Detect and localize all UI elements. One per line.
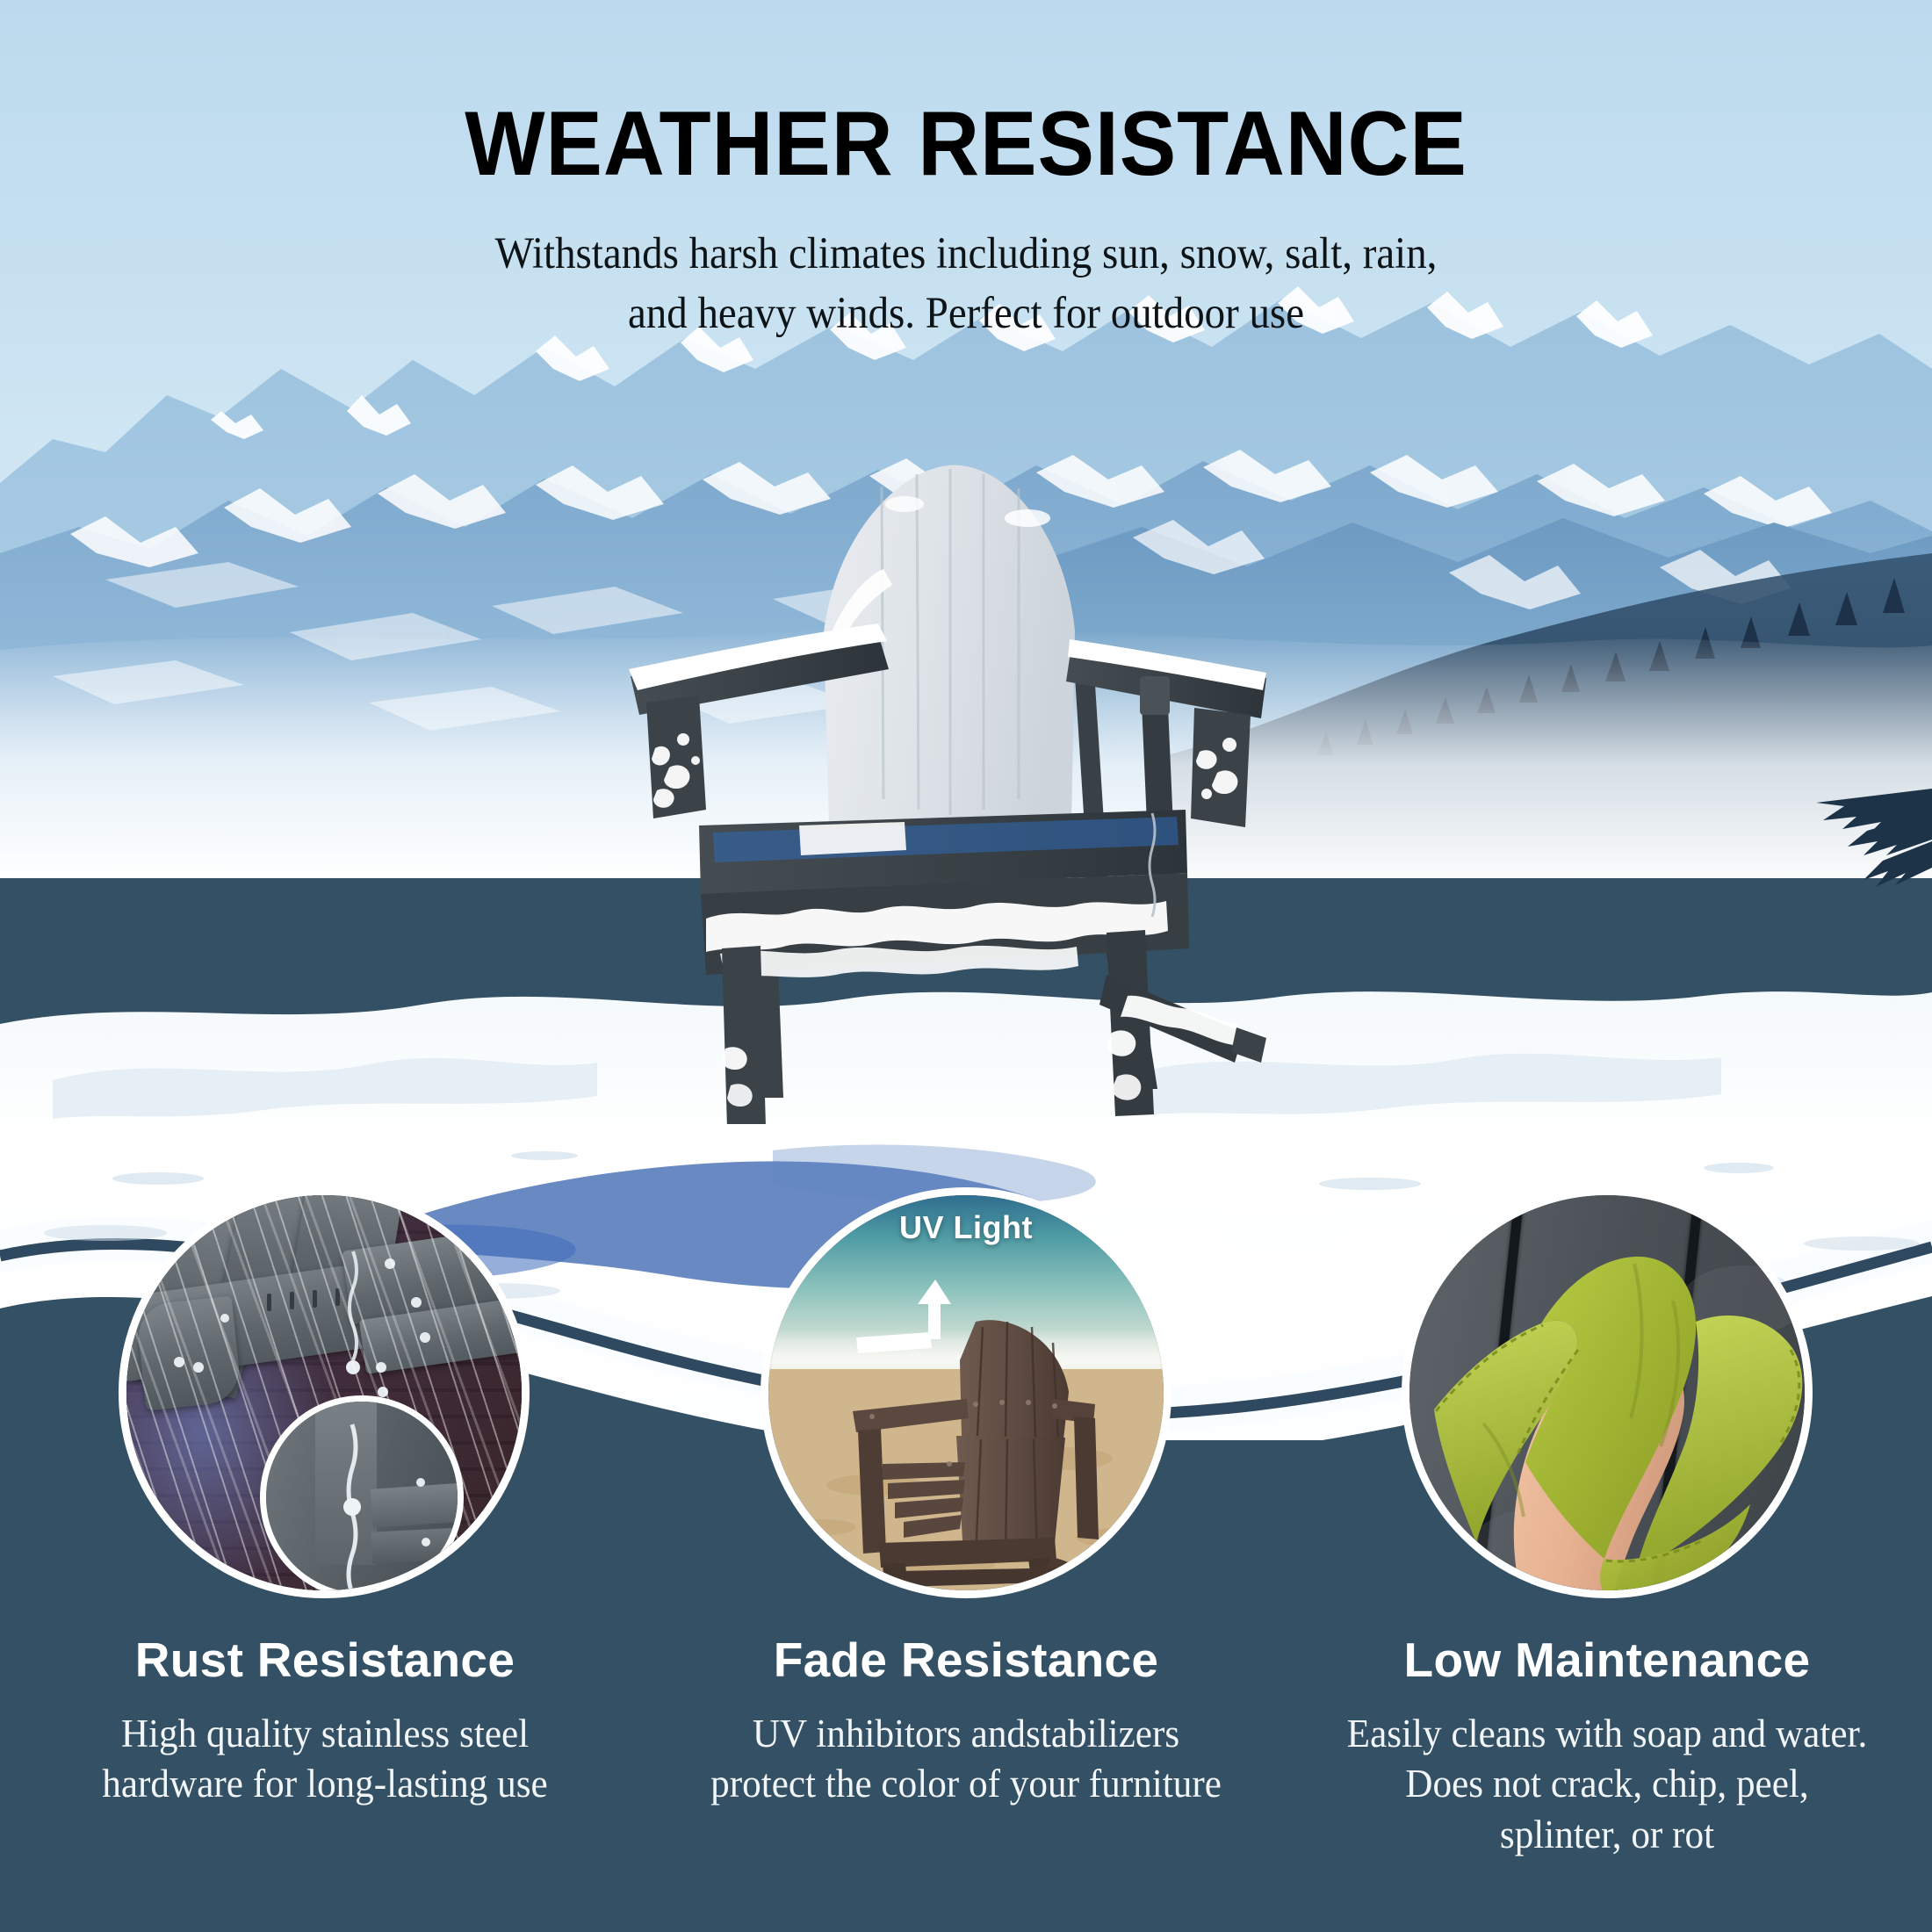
rain-hardware-photo [126, 1195, 522, 1590]
uv-arc [761, 1187, 1171, 1598]
feature-body: UV inhibitors andstabilizers protect the… [704, 1709, 1227, 1810]
microfiber-cloth-icon [1409, 1195, 1813, 1598]
feature-image-rust-resistance[interactable] [119, 1187, 530, 1598]
feature-image-row: UV Light [0, 1187, 1932, 1644]
feature-card-low-maintenance: Low Maintenance Easily cleans with soap … [1335, 1635, 1879, 1861]
feature-heading: Rust Resistance [53, 1635, 597, 1686]
feature-card-rust-resistance: Rust Resistance High quality stainless s… [53, 1635, 597, 1810]
header: WEATHER RESISTANCE Withstands harsh clim… [0, 0, 1932, 344]
uv-light-label: UV Light [768, 1209, 1164, 1246]
cleaning-photo [1409, 1195, 1805, 1590]
subtitle-line-2: and heavy winds. Perfect for outdoor use [77, 285, 1855, 344]
feature-heading: Fade Resistance [694, 1635, 1238, 1686]
page-title: WEATHER RESISTANCE [68, 98, 1864, 190]
feature-image-fade-resistance[interactable]: UV Light [761, 1187, 1171, 1598]
uv-light-arrow-icon [853, 1272, 1011, 1378]
beach-chair-photo: UV Light [768, 1195, 1164, 1590]
feature-body: Easily cleans with soap and water. Does … [1345, 1709, 1868, 1861]
infographic-canvas: WEATHER RESISTANCE Withstands harsh clim… [0, 0, 1932, 1932]
feature-heading: Low Maintenance [1335, 1635, 1879, 1686]
inset-chain-closeup[interactable] [260, 1395, 464, 1598]
feature-body: High quality stainless steel hardware fo… [63, 1709, 586, 1810]
snow-covered-chair [615, 413, 1282, 1124]
page-subtitle: Withstands harsh climates including sun,… [77, 225, 1855, 344]
feature-image-low-maintenance[interactable] [1402, 1187, 1813, 1598]
inset-chain-icon [266, 1402, 464, 1598]
subtitle-line-1: Withstands harsh climates including sun,… [77, 225, 1855, 285]
feature-card-fade-resistance: Fade Resistance UV inhibitors andstabili… [694, 1635, 1238, 1810]
pine-branch-icon [1739, 764, 1932, 931]
